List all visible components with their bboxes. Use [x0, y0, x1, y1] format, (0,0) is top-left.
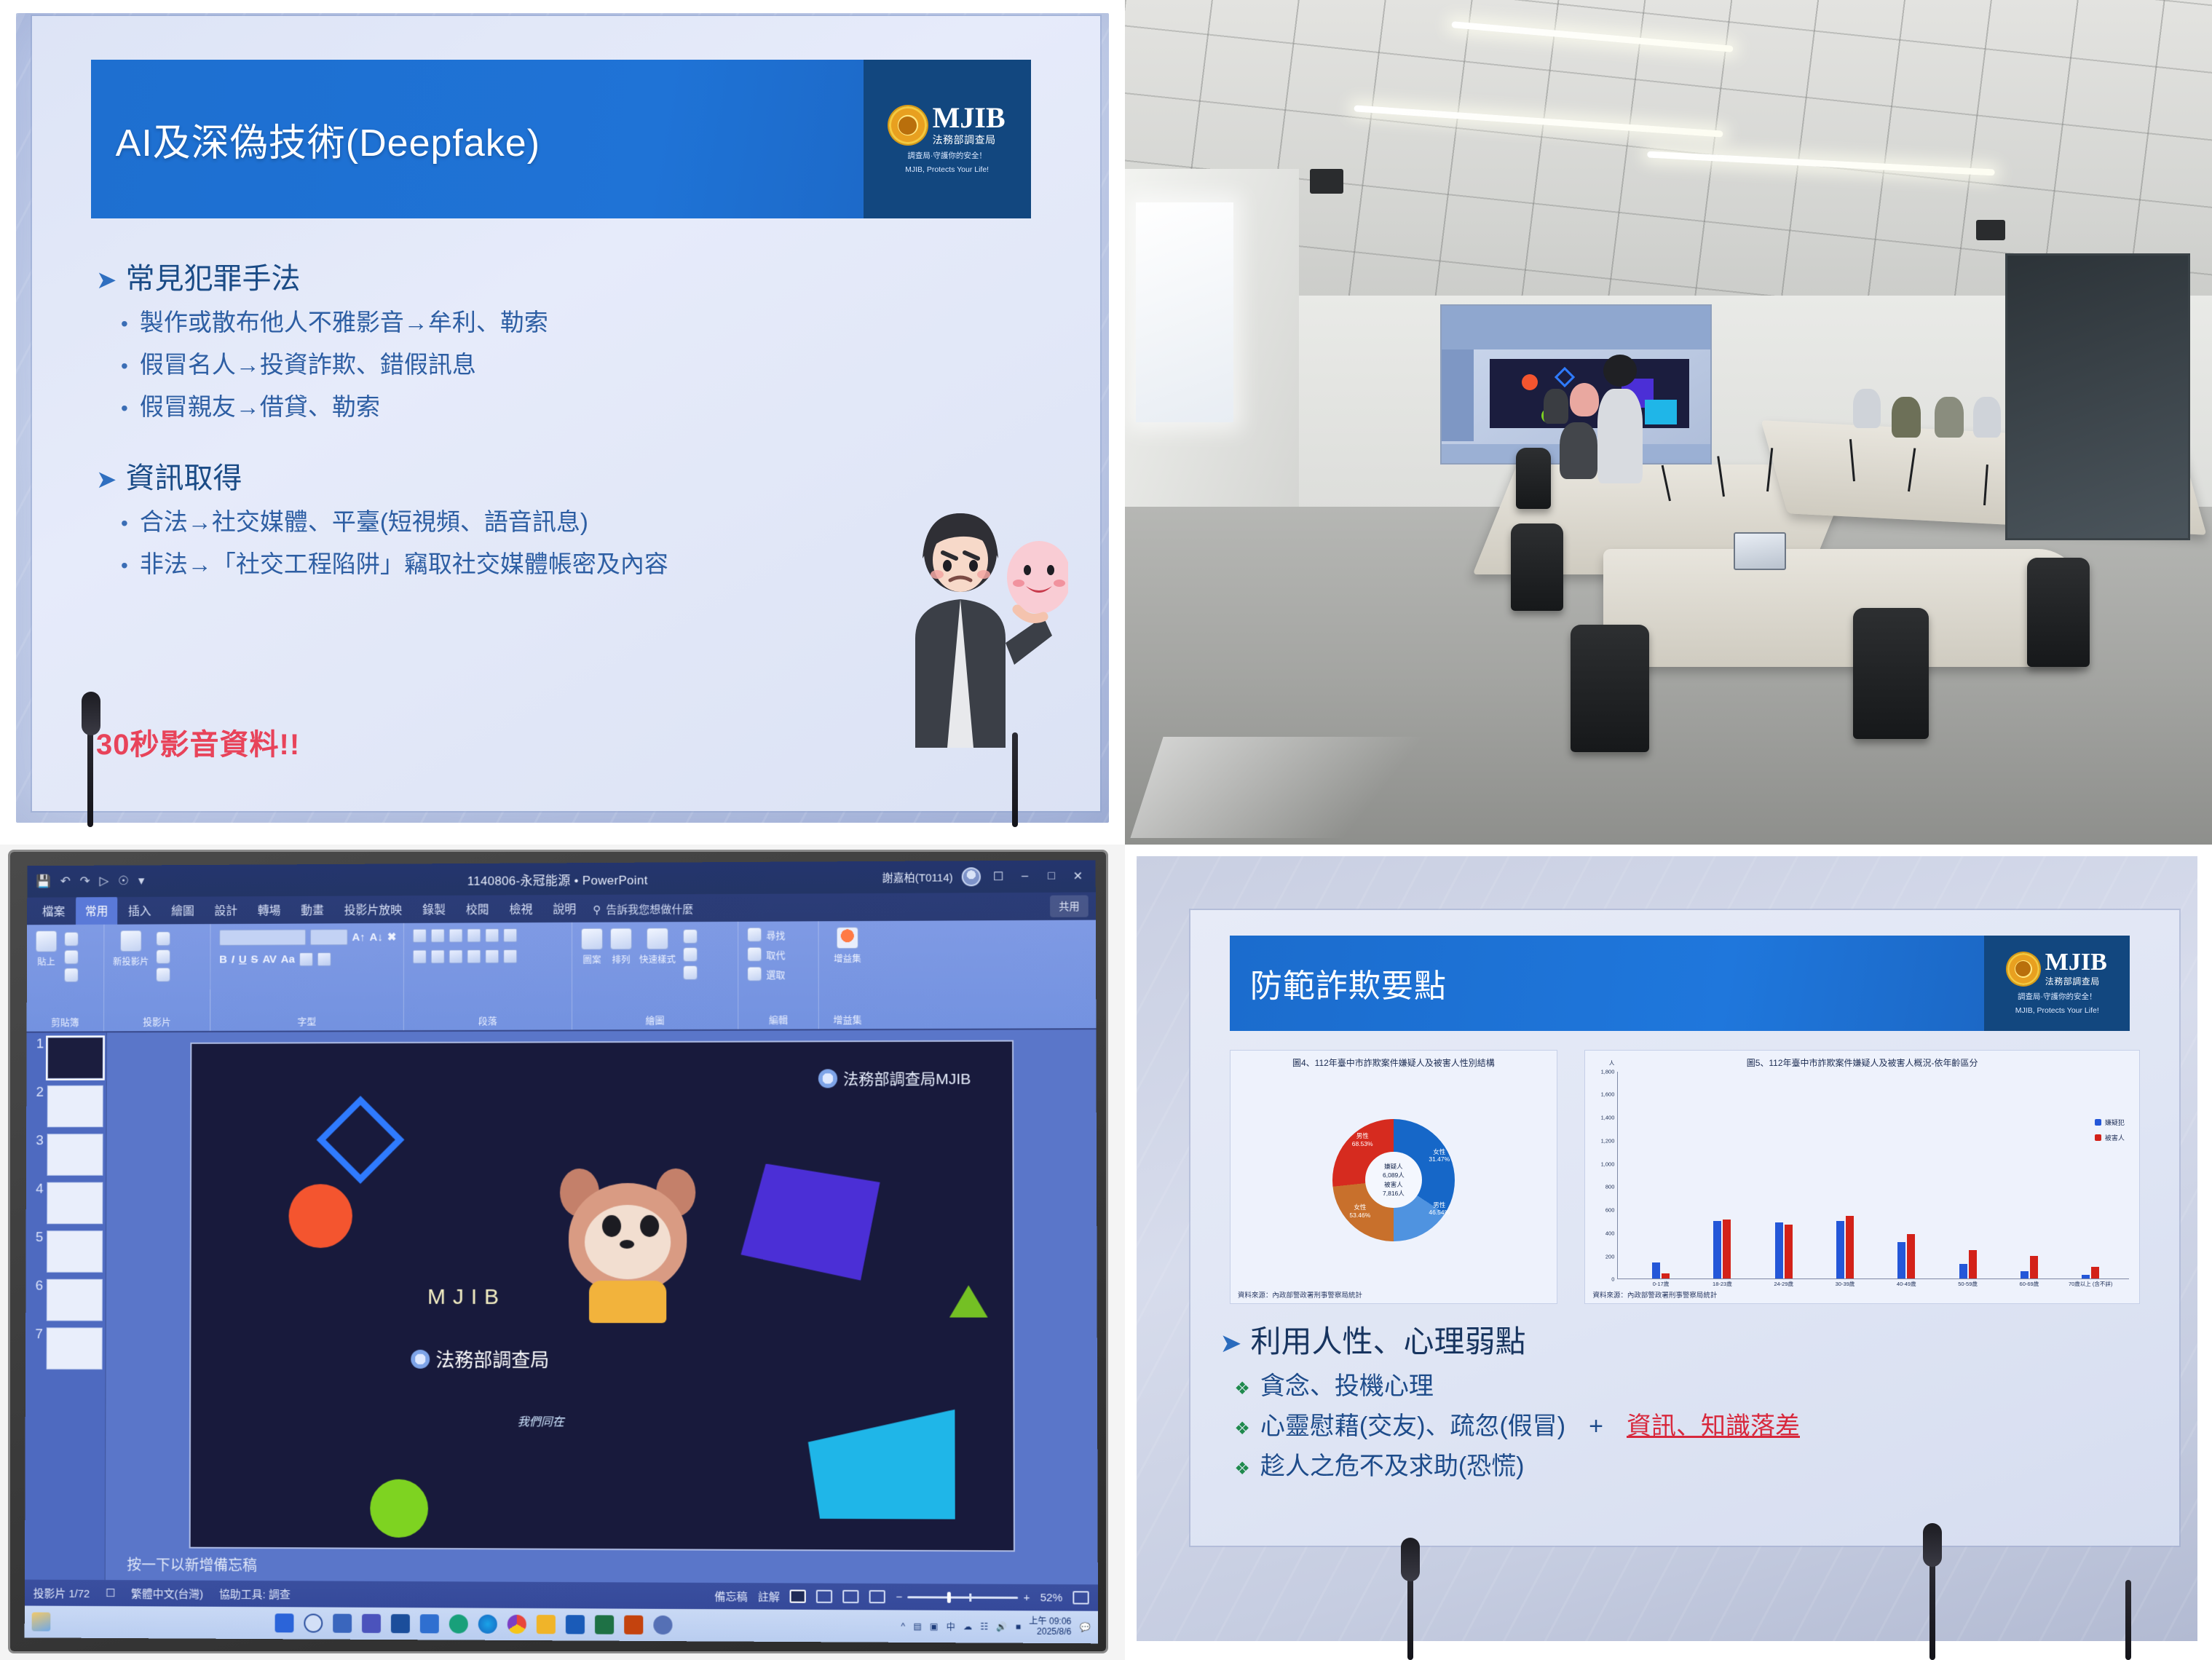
edge-icon[interactable] [478, 1615, 497, 1634]
bar-group: 30-39歲 [1817, 1216, 1873, 1278]
highlight-text: 30秒影音資料!! [96, 721, 300, 763]
ribbon-group-font: A↑ A↓ ✖ B I U S AV Aa [210, 923, 404, 1031]
x-tick: 0-17歲 [1653, 1281, 1670, 1287]
legend-label: 嫌疑犯 [2105, 1118, 2125, 1127]
notes-placeholder[interactable]: 按一下以新增備忘稿 [124, 1546, 1081, 1584]
excel-icon[interactable] [595, 1615, 614, 1634]
chart-legend: 嫌疑犯 被害人 [2095, 1118, 2125, 1142]
battery-icon[interactable]: ■ [1016, 1621, 1021, 1632]
slide-slogan: 我們同在 [518, 1412, 564, 1429]
weather-widget[interactable] [32, 1612, 51, 1631]
zoom-in-icon[interactable]: + [1023, 1591, 1030, 1603]
zoom-level[interactable]: 52% [1040, 1592, 1063, 1604]
x-tick: 60-69歲 [2020, 1281, 2039, 1287]
bullets-icon[interactable] [413, 929, 427, 943]
restore-button[interactable]: □ [1043, 870, 1060, 883]
select-button[interactable]: 選取 [766, 967, 785, 981]
mjib-org-name: 法務部調查局 [2045, 976, 2100, 987]
settings-icon[interactable] [654, 1616, 673, 1635]
bold-button[interactable]: B [219, 954, 227, 966]
slide-thumbnail[interactable] [47, 1134, 103, 1176]
microphone-stand [1929, 1558, 1935, 1660]
mjib-tagline-zh: 調查局·守護你的安全！ [2018, 992, 2097, 1002]
x-tick: 30-39歲 [1836, 1281, 1855, 1287]
attendee [1935, 397, 1964, 438]
view-slide-sorter-button[interactable] [816, 1590, 832, 1603]
strikethrough-button[interactable]: S [251, 953, 258, 965]
columns-icon[interactable] [485, 949, 499, 963]
folder-icon[interactable] [537, 1615, 556, 1634]
arrow-bullet-icon: ➤ [96, 266, 117, 295]
slide-thumbnail[interactable] [47, 1230, 103, 1273]
clock-time: 上午 09:06 [1029, 1616, 1071, 1627]
touch-mode-icon[interactable]: ☉ [118, 874, 129, 888]
notification-center-icon[interactable]: 💬 [1080, 1622, 1091, 1632]
deepfake-slide-photo: AI及深偽技術(Deepfake) MJIB 法務部調查局 調查局·守護你的安全… [0, 0, 1125, 845]
accessibility-status[interactable]: 協助工具: 調查 [219, 1586, 291, 1601]
slide-thumbnail[interactable] [47, 1279, 103, 1321]
bar-group: 18-23歲 [1694, 1220, 1750, 1278]
search-icon[interactable] [304, 1613, 323, 1632]
deepfake-slide-body: ➤ 常見犯罪手法 •製作或散布他人不雅影音→牟利、勒索 •假冒名人→投資詐欺、錯… [96, 255, 865, 587]
avatar[interactable] [962, 867, 981, 886]
attendee [1892, 397, 1921, 438]
microphone-stand [2125, 1580, 2131, 1660]
conference-table [1603, 549, 2082, 667]
outlook-icon[interactable] [566, 1615, 585, 1634]
mjib-acronym: MJIB [2045, 949, 2107, 976]
font-color-icon[interactable] [317, 952, 331, 966]
thumbnail-item: 6 [30, 1279, 103, 1321]
projector [1310, 169, 1343, 194]
zoom-slider-handle[interactable] [947, 1592, 951, 1602]
format-painter-icon[interactable] [64, 968, 79, 982]
align-center-icon[interactable] [431, 949, 445, 963]
donut-center-labels: 嫌疑人 6,089人 被害人 7,816人 [1365, 1152, 1421, 1208]
bar-group: 24-29歲 [1755, 1222, 1812, 1278]
bar-group: 60-69歲 [2001, 1256, 2057, 1279]
attendee [1560, 422, 1597, 479]
laptop [1734, 532, 1786, 570]
start-icon[interactable] [275, 1613, 294, 1632]
x-tick: 40-49歲 [1897, 1281, 1916, 1287]
tab-view[interactable]: 檢視 [499, 894, 542, 922]
slide-counter: 投影片 1/72 [33, 1585, 90, 1600]
woman-with-mask-illustration [901, 507, 1068, 748]
addins-button[interactable]: 增益集 [834, 927, 861, 965]
tab-design[interactable]: 設計 [205, 896, 247, 924]
dot-bullet-icon: • [121, 314, 128, 334]
slide-thumbnail[interactable] [47, 1327, 103, 1369]
zoom-out-icon[interactable]: − [896, 1591, 902, 1603]
quick-styles-icon [647, 928, 668, 949]
view-normal-button[interactable] [790, 1589, 806, 1602]
font-size-input[interactable] [310, 929, 348, 945]
list-item: •假冒名人→投資詐欺、錯假訊息 [121, 345, 865, 380]
screenshot-collage: AI及深偽技術(Deepfake) MJIB 法務部調查局 調查局·守護你的安全… [0, 0, 2212, 1660]
new-slide-button[interactable]: 新投影片 [113, 930, 149, 968]
chrome-icon[interactable] [507, 1615, 526, 1634]
lightbulb-icon: ⚲ [593, 903, 601, 916]
slice-label-suspect-female: 女性31.47% [1429, 1148, 1450, 1163]
dot-bullet-icon: • [121, 356, 128, 376]
powerpoint-window: 💾 ↶ ↷ ▷ ☉ ▾ 1140806-永冠能源 • PowerPoint 謝嘉… [25, 860, 1098, 1643]
sun-emblem-icon [2007, 953, 2039, 985]
bar-group: 0-17歲 [1632, 1262, 1688, 1278]
thumbnail-item: 1 [31, 1037, 103, 1079]
fit-slide-to-window-button[interactable] [1073, 1591, 1089, 1604]
ribbon-group-addins: 增益集 增益集 [819, 921, 877, 1029]
ribbon-group-drawing: 圖案 排列 快速樣式 [572, 922, 738, 1030]
page-title: AI及深偽技術(Deepfake) [91, 112, 540, 167]
spacer [96, 430, 865, 454]
show-hidden-icons-icon[interactable]: ^ [901, 1621, 906, 1632]
screen-slide [1490, 359, 1688, 428]
arrow-bullet-icon: ➤ [96, 465, 117, 494]
mjib-logo: MJIB 法務部調查局 調查局·守護你的安全！ MJIB, Protects Y… [1984, 936, 2130, 1031]
windows-taskbar[interactable]: ^ ▤ ▣ 中 ☁ ☷ 🔊 ■ 上午 09:06 2025/8/6 💬 [25, 1605, 1098, 1643]
decrease-indent-icon[interactable] [449, 929, 463, 943]
display-icon[interactable]: ▤ [913, 1621, 922, 1632]
seal-icon [818, 1069, 837, 1088]
mjib-org-name: 法務部調查局 [933, 134, 996, 146]
line-icon[interactable] [449, 1614, 468, 1633]
y-tick: 400 [1605, 1230, 1615, 1236]
bar-group: 40-49歲 [1879, 1234, 1935, 1278]
y-tick: 1,000 [1601, 1161, 1615, 1167]
slide-title-band: AI及深偽技術(Deepfake) MJIB 法務部調查局 調查局·守護你的安全… [91, 60, 1031, 218]
charts-row: 圖4、112年臺中市詐欺案件嫌疑人及被害人性別結構 男性68.53% 女性31.… [1230, 1050, 2140, 1304]
x-tick: 24-29歲 [1774, 1281, 1793, 1287]
screen-thumbnails [1442, 349, 1474, 441]
green-circle-shape [370, 1479, 428, 1538]
microphone-stand [1407, 1573, 1413, 1660]
chart-title: 圖4、112年臺中市詐欺案件嫌疑人及被害人性別結構 [1238, 1056, 1549, 1069]
tab-review[interactable]: 校閱 [457, 895, 499, 923]
align-right-icon[interactable] [449, 949, 463, 963]
select-icon[interactable] [747, 967, 762, 981]
attendee [1597, 389, 1643, 483]
language-indicator[interactable]: 繁體中文(台灣) [131, 1586, 203, 1601]
slide-acronym: MJIB [427, 1285, 506, 1310]
section-heading: ➤ 常見犯罪手法 [96, 255, 865, 297]
emphasis-text: 資訊、知識落差 [1627, 1406, 1800, 1442]
slide-org-header: 法務部調查局MJIB [818, 1067, 971, 1090]
ribbon-tabs[interactable]: 檔案 常用 插入 繪圖 設計 轉場 動畫 投影片放映 錄製 校閱 檢視 說明 ⚲… [27, 892, 1096, 925]
account-name[interactable]: 謝嘉柏(T0114) [882, 869, 953, 885]
office-chair [1511, 523, 1563, 611]
slide-title-band: 防範詐欺要點 MJIB 法務部調查局 調查局·守護你的安全！ MJIB, Pro… [1230, 936, 2130, 1031]
line-spacing-icon[interactable] [485, 928, 499, 942]
close-button[interactable]: ✕ [1069, 869, 1086, 883]
bar-group: 70歲以上 (含不詳) [2063, 1267, 2119, 1278]
text-highlight-icon[interactable] [299, 952, 313, 966]
shape-outline-icon[interactable] [683, 947, 698, 962]
thumbnail-item: 2 [31, 1086, 103, 1128]
projector [1976, 220, 2005, 240]
diamond-bullet-icon: ❖ [1234, 1378, 1250, 1399]
age-bar-chart: 圖5、112年臺中市詐欺案件嫌疑人及被害人概況-依年齡區分 人 0 200 40… [1584, 1050, 2140, 1304]
glass-door [2005, 253, 2190, 540]
ime-icon[interactable]: 中 [947, 1620, 955, 1632]
taskbar-clock[interactable]: 上午 09:06 2025/8/6 [1029, 1617, 1071, 1637]
orange-circle-shape [289, 1185, 353, 1249]
tab-insert[interactable]: 插入 [119, 896, 160, 925]
new-slide-icon [120, 930, 142, 952]
taskbar-icons[interactable] [275, 1613, 673, 1635]
display-bezel: 💾 ↶ ↷ ▷ ☉ ▾ 1140806-永冠能源 • PowerPoint 謝嘉… [10, 852, 1106, 1651]
list-item: ❖貪念、投機心理 [1234, 1366, 2149, 1402]
arrange-button[interactable]: 排列 [610, 928, 632, 965]
list-item: ❖ 心靈慰藉(交友)、疏忽(假冒) + 資訊、知識落差 [1234, 1406, 2149, 1442]
shapes-button[interactable]: 圖案 [581, 928, 603, 966]
screen-ribbon [1442, 306, 1710, 350]
arrow-bullet-icon: ➤ [1220, 1328, 1241, 1359]
shape-effects-icon[interactable] [683, 965, 698, 980]
attendee [1544, 389, 1568, 424]
purple-polygon-shape [740, 1163, 880, 1281]
paste-icon [36, 930, 58, 952]
font-family-input[interactable] [219, 929, 306, 945]
chart-source: 資料來源：內政部警政署刑事警察局統計 [1238, 1289, 1362, 1300]
ribbon-group-slides: 新投影片 投影片 [104, 924, 210, 1031]
deepfake-slide: AI及深偽技術(Deepfake) MJIB 法務部調查局 調查局·守護你的安全… [32, 16, 1100, 811]
attendee [1603, 355, 1637, 387]
tab-file[interactable]: 檔案 [33, 896, 74, 925]
dog-mascot-illustration [558, 1163, 697, 1320]
microphone-head-icon [1923, 1523, 1942, 1567]
y-tick: 600 [1605, 1207, 1615, 1214]
thumbnail-item: 3 [31, 1134, 103, 1176]
x-tick: 50-59歲 [1958, 1281, 1978, 1287]
conference-room-photo [1125, 0, 2212, 845]
microphone-stand [1012, 732, 1018, 827]
slice-label-victim-female: 女性53.46% [1349, 1203, 1370, 1219]
thumbnail-item: 4 [31, 1182, 103, 1225]
tab-slideshow[interactable]: 投影片放映 [335, 895, 411, 923]
microphone-head-icon [1401, 1538, 1420, 1581]
share-button[interactable]: 共用 [1050, 896, 1089, 917]
italic-button[interactable]: I [232, 954, 234, 966]
decrease-font-icon[interactable]: A↓ [370, 930, 383, 943]
customize-qat-icon[interactable]: ▾ [138, 874, 144, 888]
tab-animations[interactable]: 動畫 [291, 896, 333, 924]
paste-button[interactable]: 貼上 [36, 930, 58, 968]
diamond-bullet-icon: ❖ [1234, 1458, 1250, 1479]
storage-icon[interactable]: ▣ [930, 1621, 939, 1632]
zoom-slider[interactable]: − + [896, 1591, 1030, 1604]
find-button[interactable]: 尋找 [766, 928, 785, 941]
list-item: •假冒親友→借貸、勒索 [121, 387, 865, 422]
shapes-icon [581, 928, 603, 950]
ribbon-group-paragraph: 段落 [404, 922, 572, 1030]
copy-icon[interactable] [64, 950, 79, 965]
y-tick: 1,800 [1601, 1068, 1615, 1075]
green-triangle-shape [949, 1285, 988, 1317]
character-spacing-button[interactable]: AV [262, 953, 277, 965]
list-item: •合法→社交媒體、平臺(短視頻、語音訊息) [121, 502, 865, 537]
mjib-tagline-en: MJIB, Protects Your Life! [905, 165, 989, 175]
align-left-icon[interactable] [413, 950, 427, 964]
convert-smartart-icon[interactable] [503, 949, 517, 963]
chart-title: 圖5、112年臺中市詐欺案件嫌疑人及被害人概況-依年齡區分 [1592, 1056, 2132, 1069]
y-tick: 800 [1605, 1184, 1615, 1190]
mjib-acronym: MJIB [933, 101, 1006, 134]
office-chair [1853, 608, 1929, 739]
y-axis-label: 人 [1609, 1059, 1615, 1067]
tab-transitions[interactable]: 轉場 [248, 896, 290, 924]
dot-bullet-icon: • [121, 398, 128, 419]
list-item: ❖趁人之危不及求助(恐慌) [1234, 1446, 2149, 1482]
section-icon[interactable] [156, 968, 170, 982]
quick-styles-button[interactable]: 快速樣式 [639, 928, 676, 965]
list-item: •製作或散布他人不雅影音→牟利、勒索 [121, 303, 865, 338]
y-tick: 1,600 [1601, 1091, 1615, 1098]
diamond-shape [317, 1096, 405, 1184]
y-tick: 1,400 [1601, 1115, 1615, 1121]
page-title: 防範詐欺要點 [1230, 960, 1447, 1006]
text-direction-icon[interactable] [503, 928, 517, 942]
layout-icon[interactable] [156, 931, 170, 946]
tab-draw[interactable]: 繪圖 [162, 896, 203, 925]
wifi-icon[interactable]: ☷ [980, 1621, 988, 1632]
slide-thumbnail[interactable] [47, 1037, 103, 1079]
legend-label: 被害人 [2105, 1133, 2125, 1142]
y-tick: 1,200 [1601, 1137, 1615, 1144]
redo-icon[interactable]: ↷ [80, 874, 90, 889]
office-chair [1571, 625, 1649, 752]
shape-fill-icon[interactable] [683, 929, 698, 944]
system-tray[interactable]: ^ ▤ ▣ 中 ☁ ☷ 🔊 ■ 上午 09:06 2025/8/6 💬 [901, 1616, 1090, 1637]
quick-access-toolbar[interactable]: 💾 ↶ ↷ ▷ ☉ ▾ [36, 874, 144, 889]
increase-indent-icon[interactable] [467, 928, 481, 942]
slice-label-victim-male: 男性46.54% [1429, 1201, 1450, 1217]
x-tick: 70歲以上 (含不詳) [2069, 1281, 2112, 1287]
tab-record[interactable]: 錄製 [413, 895, 455, 923]
notes-button[interactable]: 備忘稿 [714, 1588, 747, 1603]
thumbnail-item: 7 [30, 1327, 103, 1369]
title-bar-right: 謝嘉柏(T0114) ☐ – □ ✕ [882, 866, 1087, 886]
slide-thumbnail[interactable] [47, 1086, 103, 1128]
change-case-button[interactable]: Aa [281, 953, 295, 965]
cyan-polygon-shape [808, 1409, 955, 1519]
microphone-head-icon [82, 692, 100, 735]
office-chair [2027, 558, 2090, 667]
gender-donut-chart: 圖4、112年臺中市詐欺案件嫌疑人及被害人性別結構 男性68.53% 女性31.… [1230, 1050, 1557, 1304]
x-tick: 18-23歲 [1713, 1281, 1732, 1287]
mjib-tagline-zh: 調查局·守護你的安全！ [907, 151, 987, 161]
spell-check-icon[interactable]: ☐ [106, 1586, 115, 1600]
find-icon[interactable] [747, 928, 762, 942]
mjib-logo: MJIB 法務部調查局 調查局·守護你的安全！ MJIB, Protects Y… [864, 60, 1031, 218]
fraud-prevention-slide-photo: 防範詐欺要點 MJIB 法務部調查局 調查局·守護你的安全！ MJIB, Pro… [1125, 845, 2212, 1660]
view-slideshow-button[interactable] [869, 1590, 885, 1603]
onedrive-icon[interactable]: ☁ [963, 1621, 972, 1632]
file-explorer-icon[interactable] [420, 1614, 439, 1633]
thumbnail-item: 5 [30, 1230, 103, 1273]
seal-icon [411, 1350, 430, 1369]
view-reading-button[interactable] [843, 1590, 859, 1603]
arrange-icon [610, 928, 632, 949]
volume-icon[interactable]: 🔊 [996, 1621, 1007, 1632]
y-tick: 0 [1611, 1276, 1614, 1283]
task-view-icon[interactable] [333, 1614, 352, 1633]
cut-icon[interactable] [64, 932, 79, 946]
replace-button[interactable]: 取代 [766, 947, 785, 961]
ribbon[interactable]: 貼上 剪貼簿 [27, 920, 1097, 1033]
tab-help[interactable]: 說明 [543, 894, 585, 922]
y-tick: 200 [1605, 1253, 1615, 1260]
title-bar: 💾 ↶ ↷ ▷ ☉ ▾ 1140806-永冠能源 • PowerPoint 謝嘉… [27, 860, 1096, 897]
powerpoint-icon[interactable] [624, 1616, 643, 1635]
justify-icon[interactable] [467, 949, 481, 963]
current-slide[interactable]: 法務部調查局MJIB MJIB 法務部調查局 [190, 1042, 1014, 1551]
underline-button[interactable]: U [239, 954, 247, 966]
start-slideshow-icon[interactable]: ▷ [99, 874, 108, 889]
fraud-slide-body: ➤ 利用人性、心理弱點 ❖貪念、投機心理 ❖ 心靈慰藉(交友)、疏忽(假冒) +… [1220, 1317, 2149, 1486]
clock-date: 2025/8/6 [1037, 1627, 1072, 1637]
comments-button[interactable]: 註解 [758, 1589, 780, 1604]
tell-me-box[interactable]: ⚲ 告訴我您想做什麼 [587, 896, 699, 922]
sun-emblem-icon [889, 106, 927, 144]
undo-icon[interactable]: ↶ [60, 874, 71, 889]
donut: 男性68.53% 女性31.47% 男性46.54% 女性53.46% 嫌疑人 … [1332, 1119, 1455, 1241]
microphones [1125, 1530, 2212, 1660]
tab-home[interactable]: 常用 [76, 896, 117, 925]
office-chair [1516, 448, 1551, 509]
bar-plot-area: 人 0 200 400 600 800 1,000 1,200 1,400 1,… [1617, 1072, 2129, 1279]
replace-icon[interactable] [747, 947, 762, 962]
slide-org-name: 法務部調查局 [411, 1345, 549, 1372]
attendee [1853, 389, 1881, 428]
slice-label-suspect-male: 男性68.53% [1352, 1132, 1373, 1147]
dot-bullet-icon: • [121, 556, 128, 576]
status-bar-right: 備忘稿 註解 − + 52% [714, 1588, 1089, 1605]
minimize-button[interactable]: – [1016, 870, 1033, 883]
ribbon-group-editing: 尋找 取代 選取 編輯 [738, 921, 819, 1029]
save-icon[interactable]: 💾 [36, 874, 51, 889]
fraud-slide: 防範詐欺要點 MJIB 法務部調查局 調查局·守護你的安全！ MJIB, Pro… [1190, 910, 2180, 1546]
ribbon-group-clipboard: 貼上 剪貼簿 [27, 925, 105, 1032]
attendee [1973, 397, 2001, 438]
bar-group: 50-59歲 [1940, 1250, 1996, 1278]
chart-source: 資料來源：內政部警政署刑事警察局統計 [1592, 1289, 1717, 1300]
editor-area: 1 2 3 4 5 6 7 法務部調查局MJIB [25, 1029, 1098, 1584]
mjib-tagline-en: MJIB, Protects Your Life! [2015, 1006, 2099, 1016]
ribbon-display-options-icon[interactable]: ☐ [990, 869, 1007, 884]
slide-thumbnail[interactable] [47, 1182, 103, 1225]
plus-sign: + [1589, 1412, 1603, 1441]
section-heading: ➤ 資訊取得 [96, 454, 865, 497]
window [1136, 202, 1233, 422]
section-heading: ➤ 利用人性、心理弱點 [1220, 1317, 2149, 1361]
list-item: •非法→「社交工程陷阱」竊取社交媒體帳密及內容 [121, 545, 865, 580]
increase-font-icon[interactable]: A↑ [352, 931, 365, 944]
reset-icon[interactable] [156, 949, 170, 964]
diamond-bullet-icon: ❖ [1234, 1418, 1250, 1439]
dot-bullet-icon: • [121, 513, 128, 534]
numbering-icon[interactable] [431, 929, 445, 943]
clear-formatting-icon[interactable]: ✖ [387, 930, 397, 944]
slide-thumbnail-pane[interactable]: 1 2 3 4 5 6 7 [25, 1032, 107, 1580]
addins-icon [837, 927, 858, 949]
powerpoint-screen-photo: 💾 ↶ ↷ ▷ ☉ ▾ 1140806-永冠能源 • PowerPoint 謝嘉… [0, 845, 1125, 1660]
word-icon[interactable] [391, 1614, 410, 1633]
slide-canvas[interactable]: 法務部調查局MJIB MJIB 法務部調查局 [106, 1029, 1098, 1584]
teams-icon[interactable] [362, 1614, 381, 1633]
